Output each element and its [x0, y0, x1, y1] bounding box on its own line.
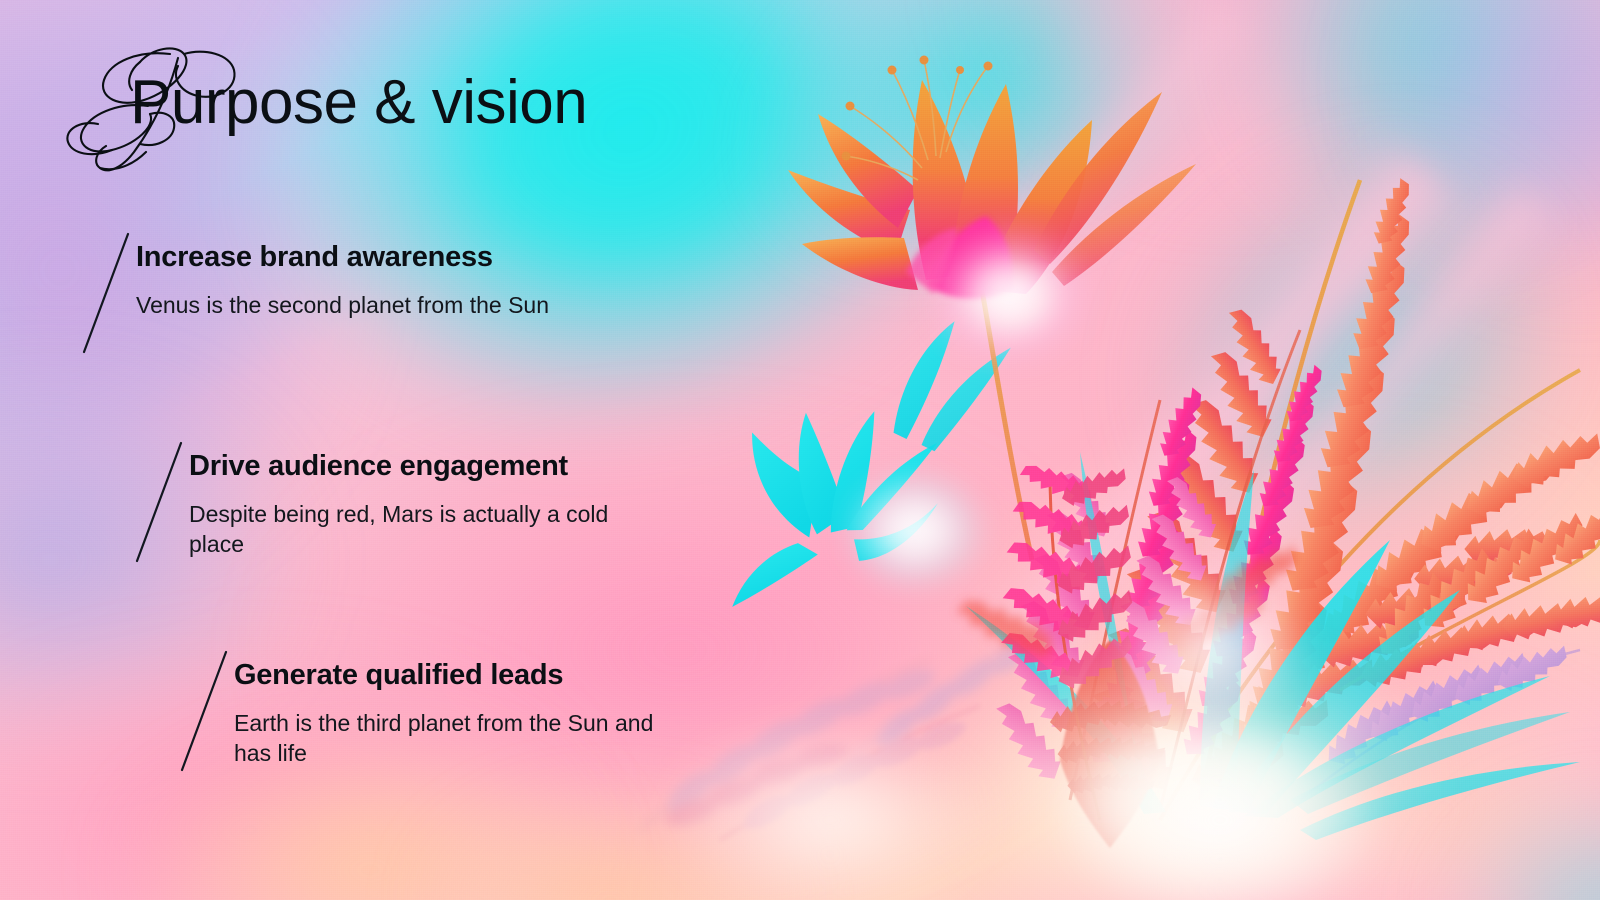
objective-heading-3: Generate qualified leads [234, 660, 754, 692]
objective-heading-2: Drive audience engagement [189, 451, 709, 483]
slide-canvas: Purpose & vision Increase brand awarenes… [0, 0, 1600, 900]
objective-body-3: Earth is the third planet from the Sun a… [234, 708, 664, 769]
slash-accent-icon [78, 232, 134, 354]
slash-accent-icon [176, 650, 232, 772]
objective-body-1: Venus is the second planet from the Sun [136, 290, 566, 321]
objective-text-1: Increase brand awareness Venus is the se… [136, 242, 656, 320]
slash-accent-icon [131, 441, 187, 563]
objective-text-3: Generate qualified leads Earth is the th… [234, 660, 754, 769]
objective-text-2: Drive audience engagement Despite being … [189, 451, 709, 560]
slide-content: Purpose & vision Increase brand awarenes… [0, 0, 1600, 900]
objective-body-2: Despite being red, Mars is actually a co… [189, 499, 619, 560]
title-block: Purpose & vision [52, 44, 692, 174]
page-title: Purpose & vision [130, 72, 587, 134]
objective-heading-1: Increase brand awareness [136, 242, 656, 274]
